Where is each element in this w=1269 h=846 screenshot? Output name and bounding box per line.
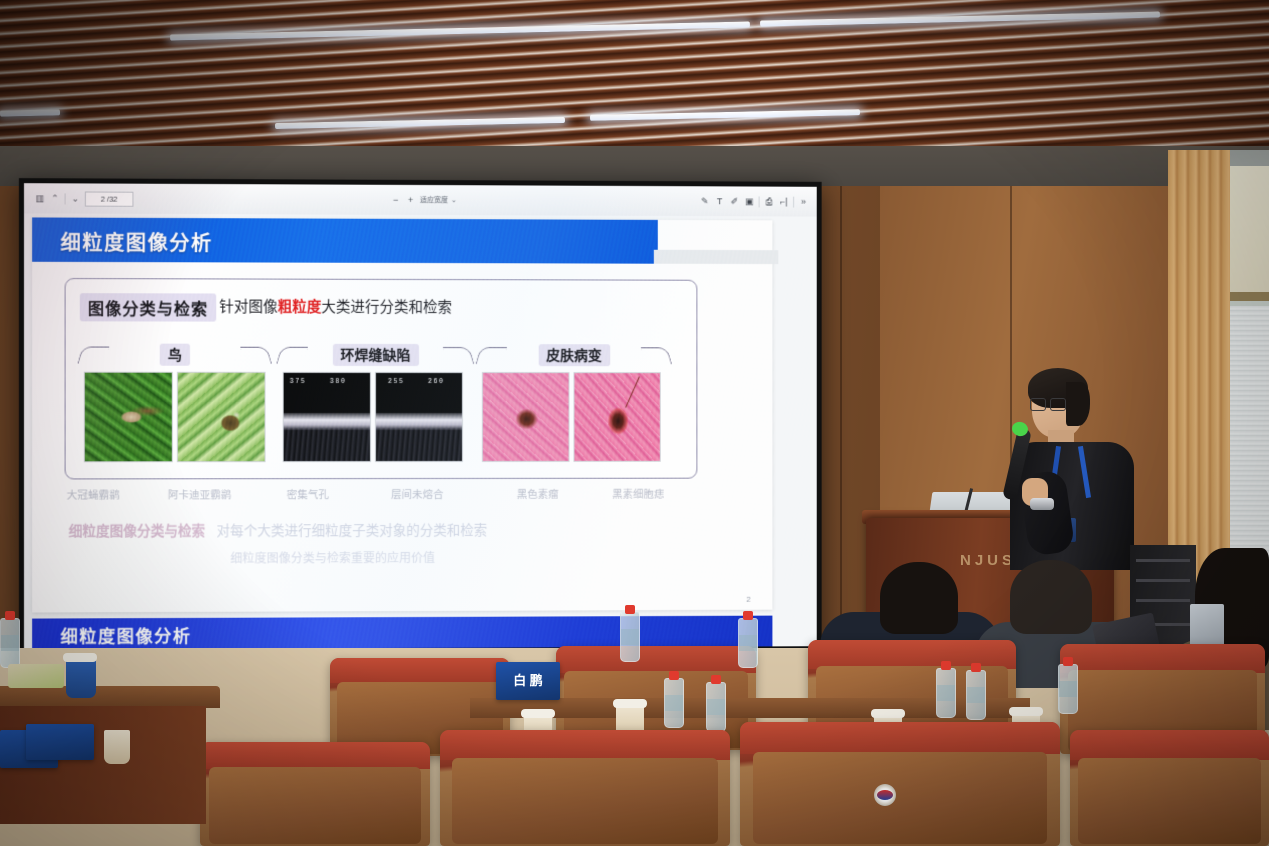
pdf-reader-toolbar[interactable]: ▥ ⌃ ⌄ 2 /32 − + 适应宽度 ⌄ bbox=[24, 183, 817, 217]
wall-seam-1 bbox=[840, 186, 842, 672]
print-icon[interactable]: ⎙ bbox=[764, 196, 775, 207]
left-table bbox=[0, 686, 220, 708]
group-weld: 环焊缝缺陷 375 380 bbox=[283, 342, 468, 462]
card-text-highlight: 粗粒度 bbox=[278, 300, 322, 316]
exit-fullscreen-icon[interactable]: ⌐| bbox=[778, 196, 789, 207]
slide-viewport: 细粒度图像分析 图像分类与检索 针对图像粗粒度大类进行分类和检索 鸟 bbox=[24, 213, 817, 649]
window-upper-glass bbox=[1224, 166, 1269, 294]
hair-strand bbox=[625, 376, 640, 407]
bracket-right-icon bbox=[443, 347, 475, 364]
next-slide-title: 细粒度图像分析 bbox=[61, 622, 192, 648]
toolbar-divider-2 bbox=[759, 196, 760, 207]
bracket-left-icon bbox=[475, 347, 507, 364]
more-icon[interactable]: » bbox=[798, 196, 809, 207]
under-table-cup bbox=[104, 730, 130, 764]
zoom-out-button[interactable]: − bbox=[390, 194, 401, 205]
group-birds-label: 鸟 bbox=[160, 344, 190, 366]
highlighter-icon[interactable]: ✐ bbox=[729, 196, 740, 207]
page-current: 2 bbox=[101, 194, 105, 203]
sublabel-3: 密集气孔 bbox=[287, 487, 391, 502]
weld-radiograph-2: 255 260 bbox=[375, 372, 463, 462]
group-weld-label: 环焊缝缺陷 bbox=[332, 344, 418, 366]
faded-pill-label: 细粒度图像分类与检索 bbox=[69, 523, 205, 538]
faded-line-1: 细粒度图像分类与检索 对每个大类进行细粒度子类对象的分类和检索 bbox=[69, 519, 488, 540]
dermoscopy-melanoma bbox=[482, 372, 570, 462]
slide-title-tail bbox=[654, 250, 778, 264]
zoom-in-button[interactable]: + bbox=[405, 194, 416, 205]
subcategory-labels: 大冠蝇霸鹟 阿卡迪亚霸鹟 密集气孔 层间未熔合 黑色素瘤 黑素细胞痣 bbox=[67, 487, 688, 503]
presenter-hair-side bbox=[1066, 382, 1090, 426]
water-bottle-1 bbox=[620, 612, 640, 662]
card-text-after: 大类进行分类和检索 bbox=[321, 300, 452, 316]
water-bottle-8 bbox=[0, 618, 20, 668]
page-indicator[interactable]: 2 /32 bbox=[85, 191, 134, 206]
text-tool-icon[interactable]: T bbox=[714, 196, 725, 207]
projection-screen: ▥ ⌃ ⌄ 2 /32 − + 适应宽度 ⌄ bbox=[24, 183, 817, 650]
audience-head-2 bbox=[1010, 560, 1092, 634]
weld-number-380: 380 bbox=[330, 378, 347, 385]
blue-coffee-cup bbox=[66, 658, 96, 698]
bird-photo-foliage bbox=[84, 372, 173, 463]
faded-line-2: 细粒度图像分类与检索重要的应用价值 bbox=[230, 549, 435, 567]
glasses-icon bbox=[1030, 398, 1064, 409]
seat-row1-right bbox=[1070, 730, 1269, 846]
group-skin-label: 皮肤病变 bbox=[538, 344, 610, 366]
weld-number-260: 260 bbox=[428, 378, 445, 385]
card-description: 针对图像粗粒度大类进行分类和检索 bbox=[219, 296, 452, 318]
card-text-before: 针对图像 bbox=[219, 300, 277, 316]
sublabel-1: 大冠蝇霸鹟 bbox=[67, 487, 168, 502]
slide-title-banner: 细粒度图像分析 bbox=[32, 217, 658, 263]
toolbar-divider bbox=[65, 193, 66, 204]
card-pill-label: 图像分类与检索 bbox=[80, 293, 216, 321]
sublabel-5: 黑色素瘤 bbox=[517, 487, 612, 502]
seat-emblem-badge bbox=[874, 784, 896, 806]
ceiling-shading bbox=[0, 0, 1269, 152]
nameplate-text: 白 鹏 bbox=[496, 670, 560, 689]
group-skin-images bbox=[482, 372, 666, 462]
wristwatch bbox=[1030, 498, 1054, 510]
bracket-left-icon bbox=[276, 346, 308, 363]
presenter bbox=[1004, 368, 1144, 568]
seat-row1-left bbox=[440, 730, 730, 846]
group-weld-images: 375 380 255 260 bbox=[283, 372, 468, 462]
water-bottle-5 bbox=[936, 668, 956, 718]
sublabel-6: 黑素细胞痣 bbox=[612, 487, 664, 502]
water-bottle-4 bbox=[706, 682, 726, 732]
group-birds: 鸟 bbox=[84, 341, 266, 462]
next-slide-banner: 细粒度图像分析 bbox=[32, 616, 772, 650]
chevron-down-icon[interactable]: ⌄ bbox=[451, 196, 457, 204]
weld-noise bbox=[376, 428, 462, 461]
seat-row1-far-left bbox=[200, 742, 430, 846]
faded-line-1-text: 对每个大类进行细粒度子类对象的分类和检索 bbox=[216, 523, 487, 539]
slide-title: 细粒度图像分析 bbox=[61, 227, 213, 257]
bracket-right-icon bbox=[240, 346, 272, 363]
sublabel-2: 阿卡迪亚霸鹟 bbox=[168, 487, 287, 502]
projection-screen-frame: ▥ ⌃ ⌄ 2 /32 − + 适应宽度 ⌄ bbox=[19, 178, 822, 655]
water-bottle-3 bbox=[664, 678, 684, 728]
bird-photo-perched bbox=[177, 372, 266, 462]
group-skin-header: 皮肤病变 bbox=[482, 342, 666, 368]
layout-icon[interactable]: ▥ bbox=[34, 193, 45, 204]
left-nameplate-2 bbox=[26, 724, 94, 760]
bracket-right-icon bbox=[641, 347, 673, 364]
zoom-level-label: 适应宽度 bbox=[420, 195, 448, 205]
content-card: 图像分类与检索 针对图像粗粒度大类进行分类和检索 鸟 bbox=[65, 278, 698, 479]
group-skin: 皮肤病变 bbox=[482, 342, 666, 462]
water-bottle-2 bbox=[738, 618, 758, 668]
pen-icon[interactable]: ✎ bbox=[699, 196, 710, 207]
presentation-room-photo: ▥ ⌃ ⌄ 2 /32 − + 适应宽度 ⌄ bbox=[0, 0, 1269, 846]
toolbar-divider-3 bbox=[793, 196, 794, 207]
sublabel-4: 层间未熔合 bbox=[391, 487, 517, 502]
chevron-up-icon[interactable]: ⌃ bbox=[49, 193, 60, 204]
water-bottle-6 bbox=[966, 670, 986, 720]
weld-radiograph-1: 375 380 bbox=[283, 372, 371, 462]
image-icon[interactable]: ▣ bbox=[744, 196, 755, 207]
snack-plate bbox=[8, 664, 64, 688]
slide-page: 细粒度图像分析 图像分类与检索 针对图像粗粒度大类进行分类和检索 鸟 bbox=[32, 217, 772, 612]
bracket-left-icon bbox=[77, 346, 109, 363]
page-total: /32 bbox=[107, 194, 118, 203]
slide-page-number: 2 bbox=[746, 595, 750, 604]
chevron-down-icon[interactable]: ⌄ bbox=[70, 193, 81, 204]
weld-number-375: 375 bbox=[290, 378, 307, 385]
group-birds-header: 鸟 bbox=[84, 341, 266, 367]
weld-number-255: 255 bbox=[388, 378, 405, 385]
zoom-level-select[interactable]: 适应宽度 ⌄ bbox=[420, 195, 457, 205]
group-weld-header: 环焊缝缺陷 bbox=[283, 342, 468, 368]
water-bottle-7 bbox=[1058, 664, 1078, 714]
group-birds-images bbox=[84, 372, 266, 463]
audience-head-1 bbox=[880, 562, 958, 634]
seat-row1-mid bbox=[740, 722, 1060, 846]
dermoscopy-nevus bbox=[573, 372, 660, 462]
weld-noise bbox=[284, 428, 370, 462]
table-nameplate: 白 鹏 bbox=[496, 662, 560, 700]
